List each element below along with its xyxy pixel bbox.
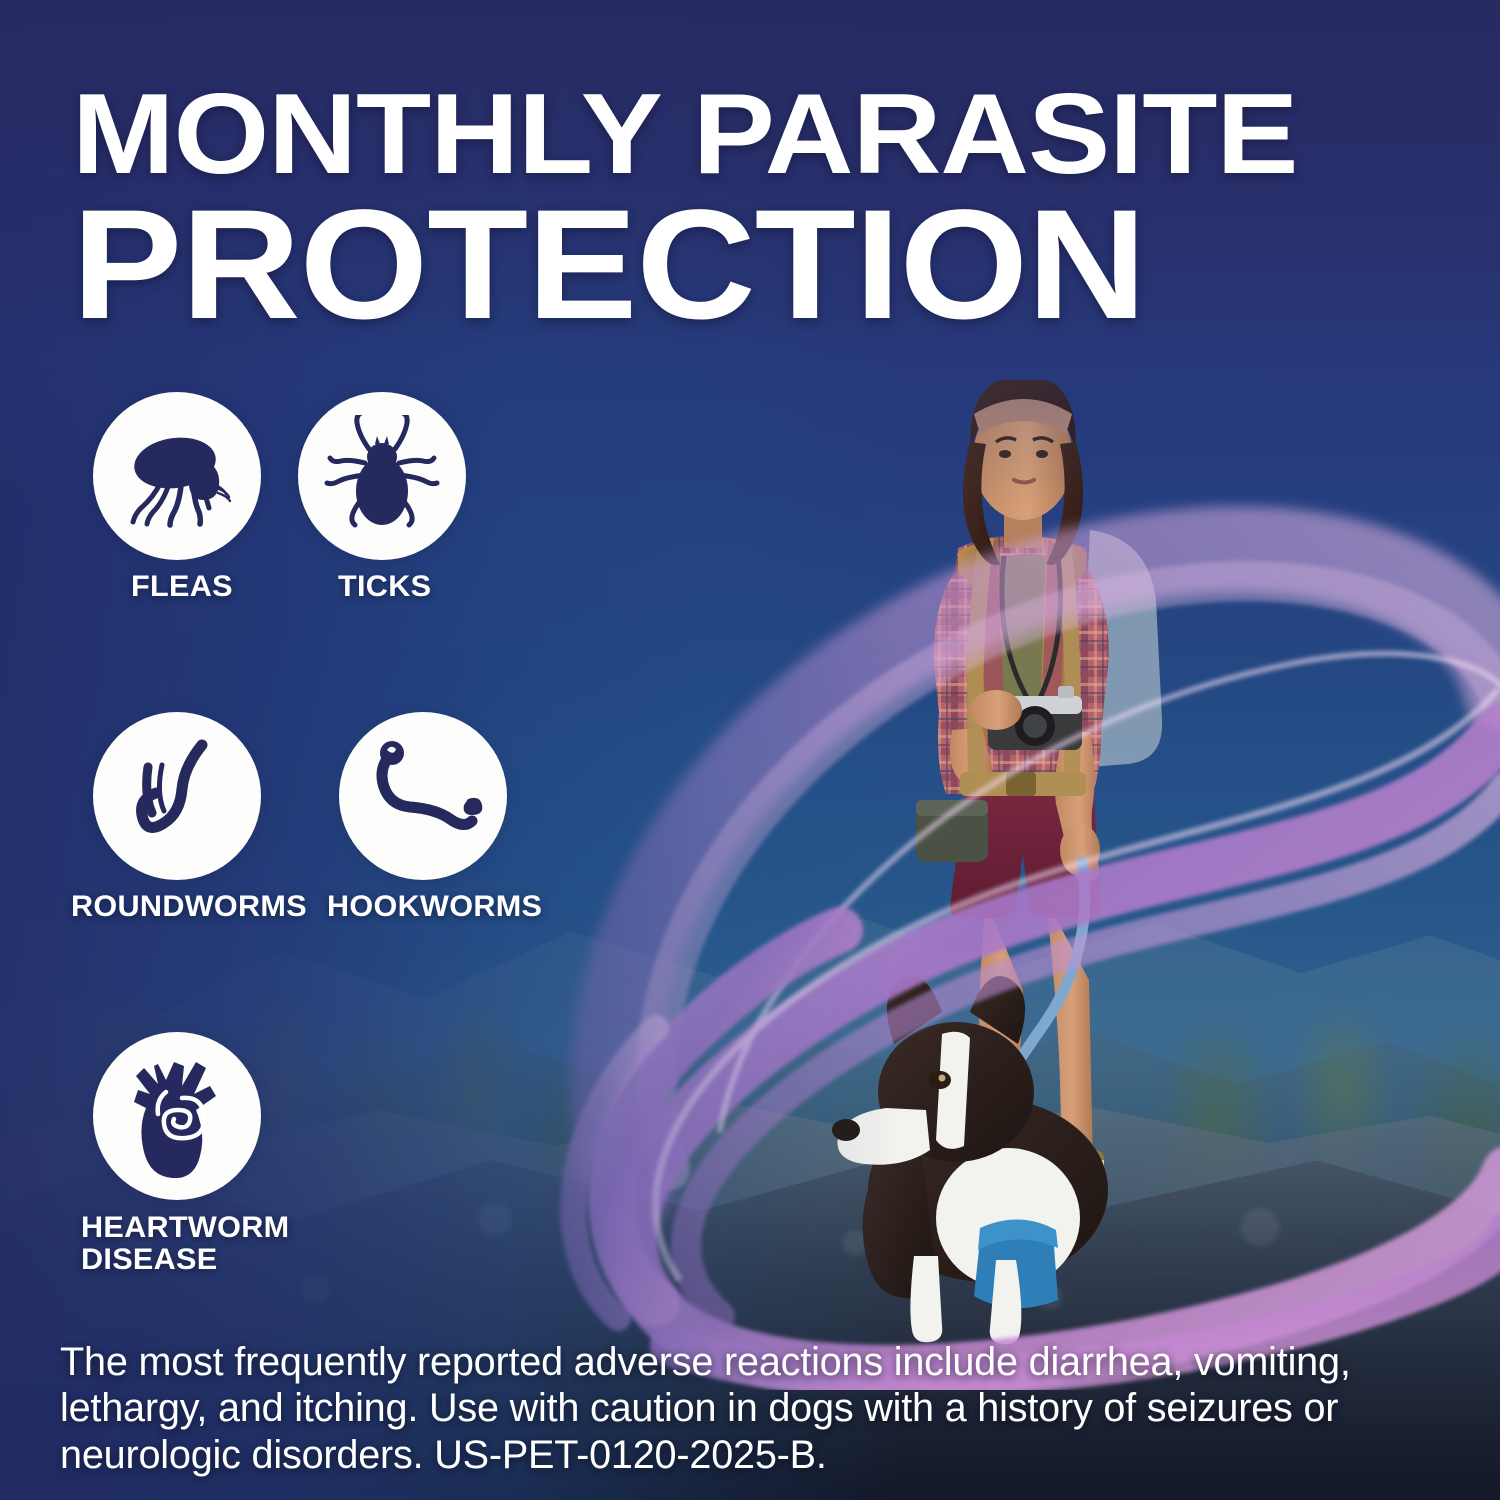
parasite-item-ticks[interactable]: TICKS bbox=[298, 392, 466, 602]
flea-icon bbox=[117, 416, 237, 536]
advertisement-root: MONTHLY PARASITE PROTECTION bbox=[0, 0, 1500, 1500]
parasite-label-hookworms: HOOKWORMS bbox=[327, 892, 542, 922]
tick-icon bbox=[323, 415, 441, 537]
heartworm-label-line1: HEARTWORM bbox=[81, 1211, 289, 1244]
roundworm-icon bbox=[118, 735, 236, 857]
disclaimer-line-2: lethargy, and itching. Use with caution … bbox=[60, 1385, 1440, 1431]
parasite-icon-grid: FLEAS bbox=[60, 392, 580, 1276]
parasite-label-ticks: TICKS bbox=[338, 572, 469, 602]
heartworm-heart-icon bbox=[122, 1054, 232, 1178]
heartworm-label-line2: DISEASE bbox=[81, 1243, 217, 1276]
parasite-item-hookworms[interactable]: HOOKWORMS bbox=[339, 712, 538, 922]
heartworm-icon-bubble bbox=[93, 1032, 261, 1200]
parasite-item-heartworm-disease[interactable]: HEARTWORM DISEASE bbox=[93, 1032, 285, 1276]
disclaimer-line-3: neurologic disorders. US-PET-0120-2025-B… bbox=[60, 1432, 1440, 1478]
icon-row-1: FLEAS bbox=[60, 392, 580, 602]
roundworm-icon-bubble bbox=[93, 712, 261, 880]
parasite-label-fleas: FLEAS bbox=[131, 572, 264, 602]
headline: MONTHLY PARASITE PROTECTION bbox=[72, 84, 1372, 335]
icon-row-3: HEARTWORM DISEASE bbox=[60, 1032, 580, 1276]
parasite-label-roundworms: ROUNDWORMS bbox=[71, 892, 307, 922]
headline-line-2: PROTECTION bbox=[72, 195, 1450, 335]
disclaimer-line-1: The most frequently reported adverse rea… bbox=[60, 1339, 1440, 1385]
parasite-item-fleas[interactable]: FLEAS bbox=[93, 392, 261, 602]
headline-line-1: MONTHLY PARASITE bbox=[72, 84, 1476, 187]
parasite-label-heartworm-disease: HEARTWORM DISEASE bbox=[81, 1212, 289, 1276]
hookworm-icon bbox=[362, 737, 484, 855]
disclaimer-text: The most frequently reported adverse rea… bbox=[60, 1339, 1454, 1478]
parasite-item-roundworms[interactable]: ROUNDWORMS bbox=[93, 712, 302, 922]
flea-icon-bubble bbox=[93, 392, 261, 560]
hookworm-icon-bubble bbox=[339, 712, 507, 880]
icon-row-2: ROUNDWORMS HOOKWORMS bbox=[60, 712, 580, 922]
tick-icon-bubble bbox=[298, 392, 466, 560]
